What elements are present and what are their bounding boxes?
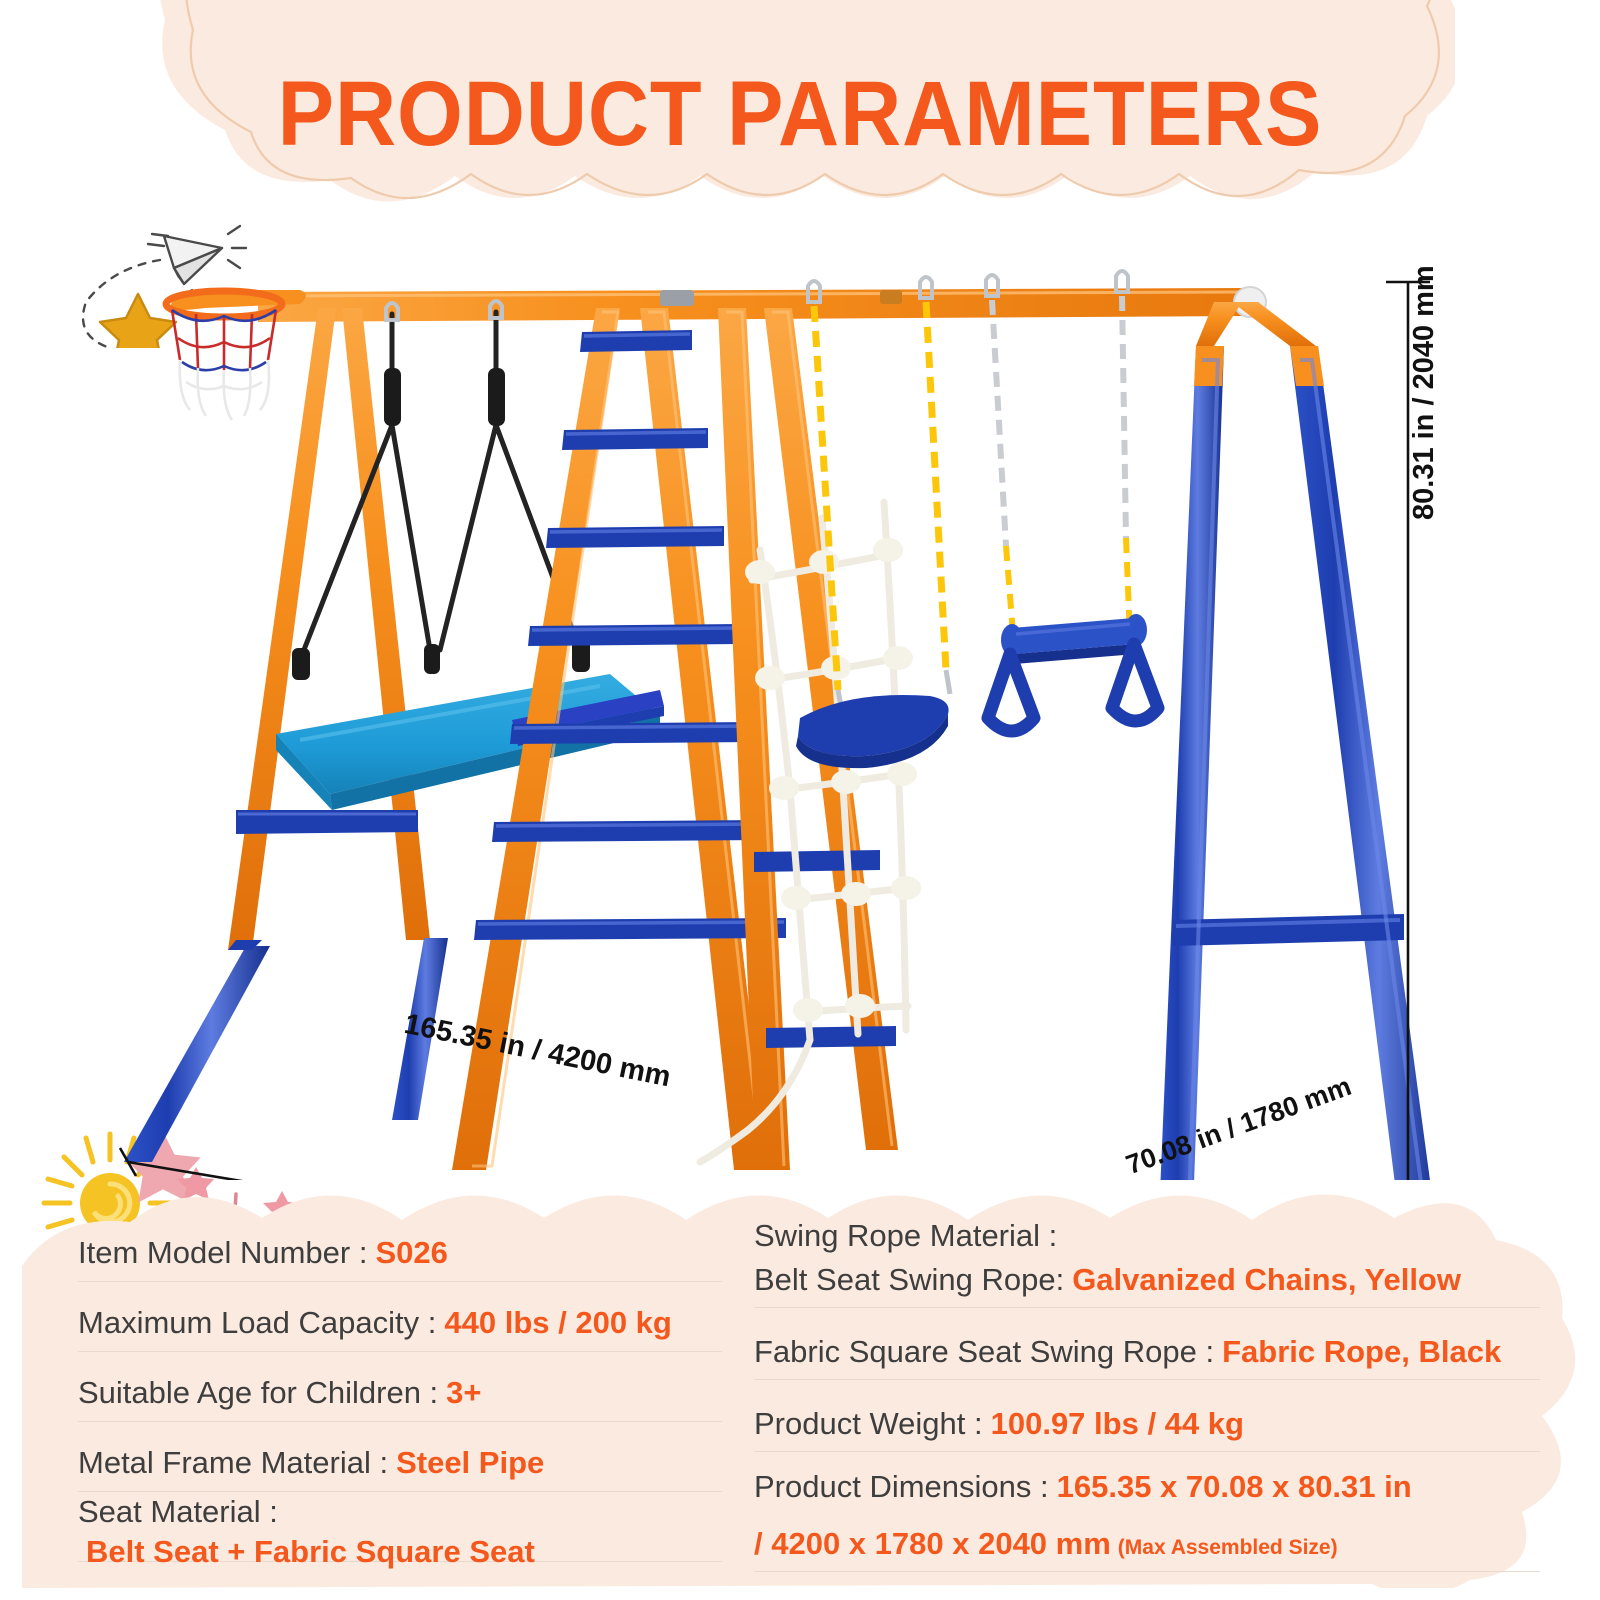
spec-label: Belt Seat Swing Rope: bbox=[754, 1260, 1064, 1300]
spec-value: Belt Seat + Fabric Square Seat bbox=[86, 1532, 535, 1572]
spec-label: Metal Frame Material : bbox=[78, 1443, 388, 1483]
spec-row-product-dimensions: Product Dimensions : 165.35 x 70.08 x 80… bbox=[754, 1452, 1540, 1572]
trapeze-bar-with-rings bbox=[986, 271, 1158, 731]
spec-label: Item Model Number : bbox=[78, 1233, 367, 1273]
height-dimension-label: 80.31 in / 2040 mm bbox=[1408, 265, 1441, 520]
infographic-root: PRODUCT PARAMETERS bbox=[0, 0, 1600, 1600]
swing-rope-material-heading: Swing Rope Material : bbox=[754, 1216, 1057, 1256]
spec-row-max-load-capacity: Maximum Load Capacity : 440 lbs / 200 kg bbox=[78, 1282, 722, 1352]
spec-value: Steel Pipe bbox=[396, 1443, 544, 1483]
spec-row-belt-seat-swing-rope: Swing Rope Material : Belt Seat Swing Ro… bbox=[754, 1212, 1540, 1308]
spec-label: Product Dimensions : bbox=[754, 1467, 1049, 1507]
right-a-frame bbox=[1158, 302, 1442, 1180]
width-dimension-line bbox=[128, 1162, 1046, 1180]
spec-value: Fabric Rope, Black bbox=[1222, 1332, 1501, 1372]
spec-row-item-model-number: Item Model Number : S026 bbox=[78, 1212, 722, 1282]
spec-value: S026 bbox=[375, 1233, 447, 1273]
spec-value: Galvanized Chains, Yellow bbox=[1072, 1260, 1461, 1300]
spec-value: 100.97 lbs / 44 kg bbox=[991, 1404, 1244, 1444]
silver-chain-left bbox=[992, 300, 1006, 546]
spec-row-product-weight: Product Weight : 100.97 lbs / 44 kg bbox=[754, 1380, 1540, 1452]
spec-label: Seat Material : bbox=[78, 1492, 278, 1532]
black-fabric-ropes bbox=[300, 312, 580, 660]
spec-label: Maximum Load Capacity : bbox=[78, 1303, 436, 1343]
spec-row-fabric-square-seat-swing-rope: Fabric Square Seat Swing Rope : Fabric R… bbox=[754, 1308, 1540, 1380]
spec-panel: Item Model Number : S026 Maximum Load Ca… bbox=[22, 1188, 1580, 1588]
spec-label: Product Weight : bbox=[754, 1404, 983, 1444]
spec-label: Suitable Age for Children : bbox=[78, 1373, 438, 1413]
spec-label: Fabric Square Seat Swing Rope : bbox=[754, 1332, 1214, 1372]
spec-value-mm: / 4200 x 1780 x 2040 mm bbox=[754, 1524, 1111, 1564]
spec-value: 3+ bbox=[446, 1373, 481, 1413]
spec-column-left: Item Model Number : S026 Maximum Load Ca… bbox=[22, 1188, 740, 1588]
silver-chain-right bbox=[1122, 296, 1126, 538]
max-assembled-size-note: (Max Assembled Size) bbox=[1118, 1536, 1338, 1560]
page-title: PRODUCT PARAMETERS bbox=[64, 62, 1536, 167]
hoop-net bbox=[172, 310, 276, 420]
spec-column-right: Swing Rope Material : Belt Seat Swing Ro… bbox=[740, 1188, 1580, 1588]
spec-row-suitable-age: Suitable Age for Children : 3+ bbox=[78, 1352, 722, 1422]
product-illustration bbox=[0, 250, 1600, 1180]
spec-row-seat-material: Seat Material : Belt Seat + Fabric Squar… bbox=[78, 1492, 722, 1562]
spec-value: 440 lbs / 200 kg bbox=[444, 1303, 671, 1343]
spec-row-metal-frame-material: Metal Frame Material : Steel Pipe bbox=[78, 1422, 722, 1492]
spec-value-inches: 165.35 x 70.08 x 80.31 in bbox=[1057, 1467, 1412, 1507]
yellow-chain-right bbox=[926, 302, 946, 670]
